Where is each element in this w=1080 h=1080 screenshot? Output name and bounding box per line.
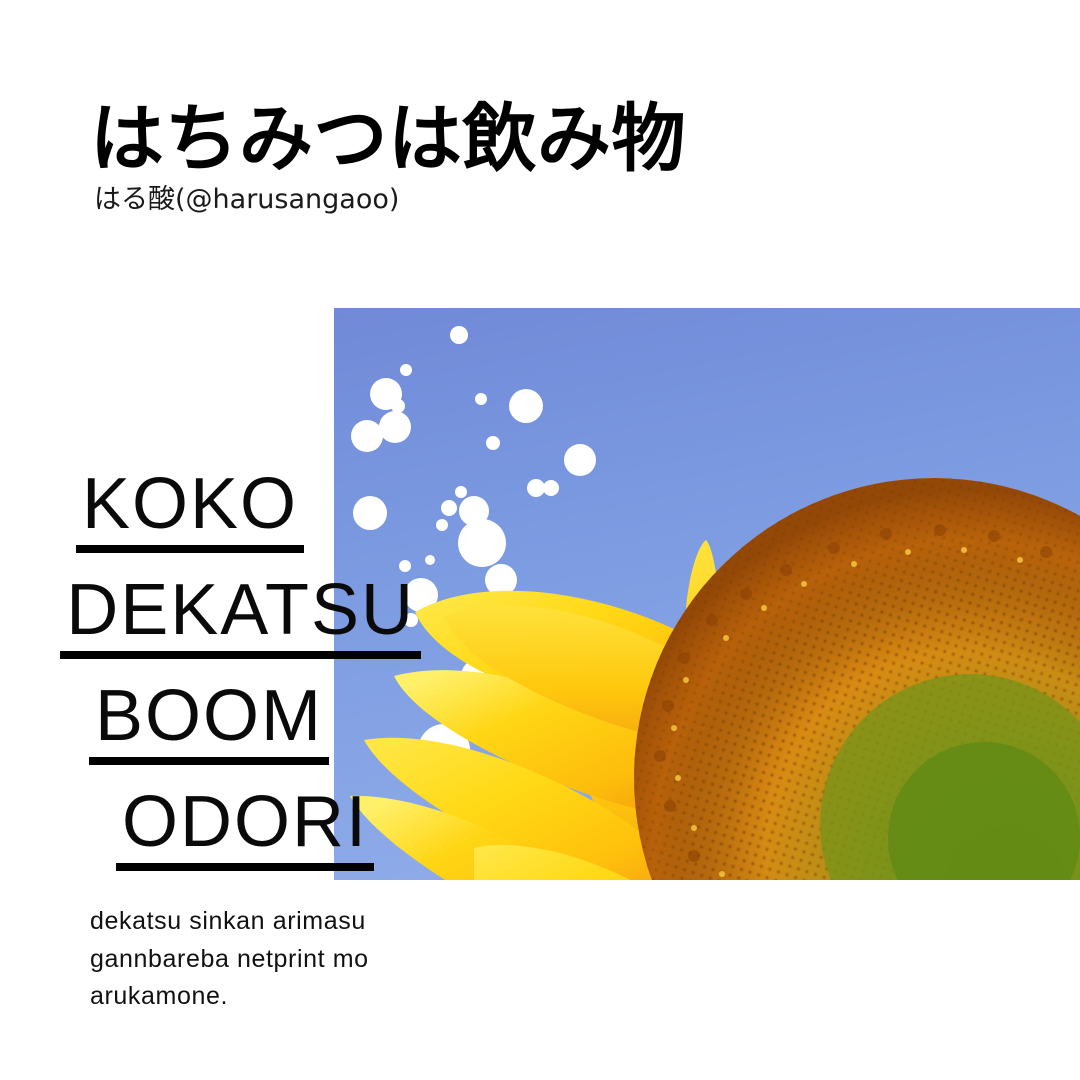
page-title: はちみつは飲み物: [90, 100, 990, 178]
headline-block: KOKO DEKATSU BOOM ODORI: [0, 470, 420, 894]
headline-line-2: DEKATSU: [0, 576, 420, 659]
caption-line-3: arukamone.: [90, 978, 510, 1016]
caption-block: dekatsu sinkan arimasu gannbareba netpri…: [90, 903, 510, 1016]
headline-line-4: ODORI: [0, 788, 420, 871]
header-block: はちみつは飲み物 はる酸(@harusangaoo): [90, 100, 990, 217]
headline-word-boom: BOOM: [95, 682, 323, 765]
headline-word-dekatsu: DEKATSU: [66, 576, 415, 659]
caption-line-1: dekatsu sinkan arimasu: [90, 903, 510, 941]
author-handle: はる酸(@harusangaoo): [94, 184, 990, 216]
headline-word-odori: ODORI: [122, 788, 368, 871]
caption-line-2: gannbareba netprint mo: [90, 941, 510, 979]
headline-word-koko: KOKO: [82, 470, 298, 553]
headline-line-3: BOOM: [0, 682, 420, 765]
sunflower-photo: [334, 308, 1080, 880]
poster-canvas: はちみつは飲み物 はる酸(@harusangaoo) KOKO DEKATSU …: [0, 0, 1080, 1080]
headline-line-1: KOKO: [0, 470, 420, 553]
sunflower-photo-graphic: [334, 308, 1080, 880]
